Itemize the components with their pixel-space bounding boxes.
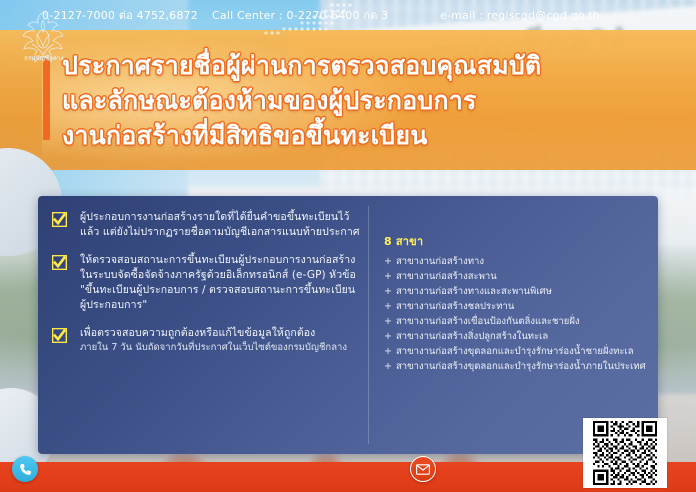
bullet-text-3: เพื่อตรวจสอบความถูกต้องหรือแก้ไขข้อมูลให… bbox=[80, 326, 360, 341]
branch-item-3: + สาขางานก่อสร้างทางและสะพานพิเศษ bbox=[384, 285, 646, 299]
bullet-text-1: ผู้ประกอบการงานก่อสร้างรายใดที่ได้ยื่นคำ… bbox=[80, 210, 360, 240]
plus-icon: + bbox=[384, 360, 392, 374]
page-title: ประกาศรายชื่อผู้ผ่านการตรวจสอบคุณสมบัติ … bbox=[62, 48, 682, 153]
plus-icon: + bbox=[384, 330, 392, 344]
plus-icon: + bbox=[384, 300, 392, 314]
phone-glyph bbox=[18, 462, 33, 477]
title-accent-bar bbox=[43, 58, 50, 140]
branch-item-7: + สาขางานก่อสร้างขุดลอกและบำรุงรักษาร่อง… bbox=[384, 345, 646, 359]
bullet-item-3: เพื่อตรวจสอบความถูกต้องหรือแก้ไขข้อมูลให… bbox=[52, 326, 360, 355]
announcement-poster: กรมบัญชีกลาง bbox=[0, 0, 696, 492]
branch-item-label: สาขางานก่อสร้างสะพาน bbox=[396, 271, 497, 282]
bullet-item-2: ให้ตรวจสอบสถานะการขึ้นทะเบียนผู้ประกอบกา… bbox=[52, 253, 360, 313]
check-icon bbox=[52, 328, 67, 343]
plus-icon: + bbox=[384, 270, 392, 284]
decorative-dots bbox=[252, 2, 356, 36]
plus-icon: + bbox=[384, 285, 392, 299]
branch-item-1: + สาขางานก่อสร้างทาง bbox=[384, 255, 646, 269]
bullet-list: ผู้ประกอบการงานก่อสร้างรายใดที่ได้ยื่นคำ… bbox=[52, 210, 360, 368]
bullet-text-2: ให้ตรวจสอบสถานะการขึ้นทะเบียนผู้ประกอบกา… bbox=[80, 253, 360, 313]
envelope-icon bbox=[410, 456, 436, 482]
branch-item-label: สาขางานก่อสร้างขุดลอกและบำรุงรักษาร่องน้… bbox=[396, 346, 634, 357]
branch-item-4: + สาขางานก่อสร้างชลประทาน bbox=[384, 300, 646, 314]
title-line-2: และลักษณะต้องห้ามของผู้ประกอบการ bbox=[62, 83, 682, 118]
plus-icon: + bbox=[384, 255, 392, 269]
content-panel: ผู้ประกอบการงานก่อสร้างรายใดที่ได้ยื่นคำ… bbox=[38, 196, 658, 454]
qr-code[interactable] bbox=[583, 418, 667, 488]
branch-item-label: สาขางานก่อสร้างสิ่งปลูกสร้างในทะเล bbox=[396, 331, 548, 342]
bullet-item-1: ผู้ประกอบการงานก่อสร้างรายใดที่ได้ยื่นคำ… bbox=[52, 210, 360, 240]
check-icon bbox=[52, 212, 67, 227]
branch-item-label: สาขางานก่อสร้างเขื่อนป้องกันตลิ่งและชายฝ… bbox=[396, 316, 580, 327]
branch-item-5: + สาขางานก่อสร้างเขื่อนป้องกันตลิ่งและชา… bbox=[384, 315, 646, 329]
envelope-glyph bbox=[416, 464, 430, 475]
column-divider bbox=[368, 206, 369, 444]
qr-code-image bbox=[586, 421, 664, 485]
bullet-subtext-3: ภายใน 7 วัน นับถัดจากวันที่ประกาศในเว็บไ… bbox=[80, 341, 360, 355]
branch-item-label: สาขางานก่อสร้างชลประทาน bbox=[396, 301, 514, 312]
phone-icon bbox=[12, 456, 38, 482]
title-line-3: งานก่อสร้างที่มีสิทธิขอขึ้นทะเบียน bbox=[62, 118, 682, 153]
branch-item-label: สาขางานก่อสร้างทางและสะพานพิเศษ bbox=[396, 286, 552, 297]
branch-list-heading: 8 สาขา bbox=[384, 232, 646, 250]
plus-icon: + bbox=[384, 315, 392, 329]
branch-item-label: สาขางานก่อสร้างขุดลอกและบำรุงรักษาร่องน้… bbox=[396, 361, 646, 372]
branch-item-label: สาขางานก่อสร้างทาง bbox=[396, 256, 484, 267]
title-line-1: ประกาศรายชื่อผู้ผ่านการตรวจสอบคุณสมบัติ bbox=[62, 48, 682, 83]
emblem-caption: กรมบัญชีกลาง bbox=[8, 53, 80, 63]
branch-item-2: + สาขางานก่อสร้างสะพาน bbox=[384, 270, 646, 284]
branch-item-8: + สาขางานก่อสร้างขุดลอกและบำรุงรักษาร่อง… bbox=[384, 360, 646, 374]
check-icon bbox=[52, 255, 67, 270]
branch-list: 8 สาขา + สาขางานก่อสร้างทาง + สาขางานก่อ… bbox=[384, 232, 646, 375]
branch-item-6: + สาขางานก่อสร้างสิ่งปลูกสร้างในทะเล bbox=[384, 330, 646, 344]
email-address[interactable]: e-mail : regiscgd@cgd.go.th bbox=[440, 0, 600, 30]
plus-icon: + bbox=[384, 345, 392, 359]
